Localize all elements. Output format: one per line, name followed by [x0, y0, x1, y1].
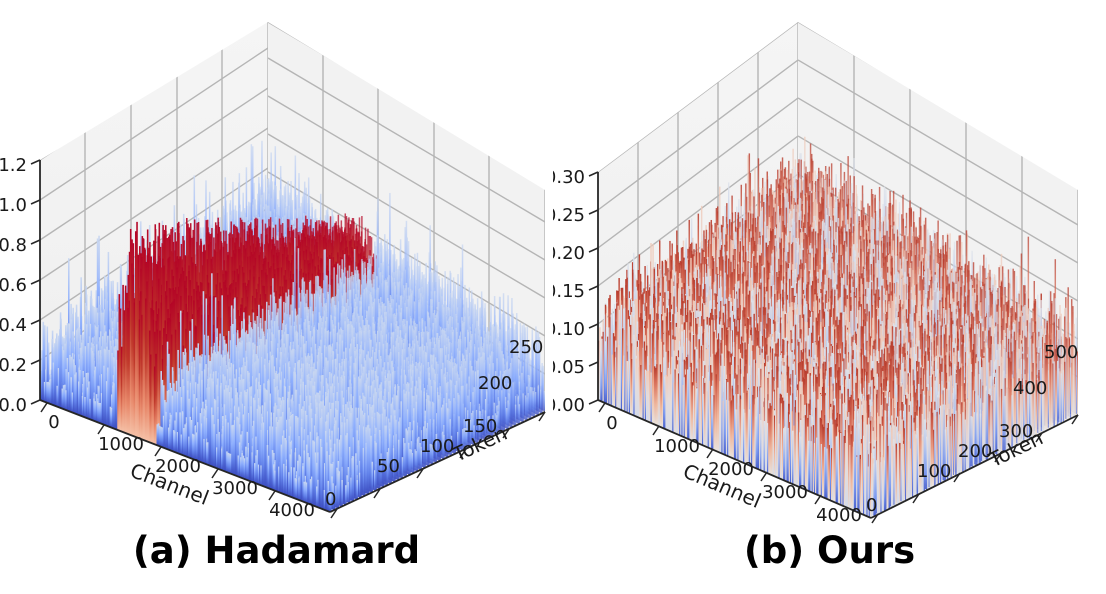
caption-panel-b: (b) Ours — [553, 529, 1106, 572]
caption-panel-a: (a) Hadamard — [0, 529, 553, 572]
panel-ours: 0.00 0.05 0.10 0.15 0.20 0.25 0.30 0 100… — [553, 0, 1106, 594]
surface-plot-a: 0.0 0.2 0.4 0.6 0.8 1.0 1.2 0 1000 2000 — [0, 0, 553, 594]
z-ticks-a — [31, 160, 40, 404]
z-ticklabels-a: 0.0 0.2 0.4 0.6 0.8 1.0 1.2 — [0, 155, 27, 416]
surface-plot-b: 0.00 0.05 0.10 0.15 0.20 0.25 0.30 0 100… — [553, 0, 1106, 594]
z-ticklabels-b: 0.00 0.05 0.10 0.15 0.20 0.25 0.30 — [553, 167, 585, 416]
figure-root: 0.0 0.2 0.4 0.6 0.8 1.0 1.2 0 1000 2000 — [0, 0, 1106, 594]
panel-hadamard: 0.0 0.2 0.4 0.6 0.8 1.0 1.2 0 1000 2000 — [0, 0, 553, 594]
z-ticks-b — [589, 172, 598, 404]
